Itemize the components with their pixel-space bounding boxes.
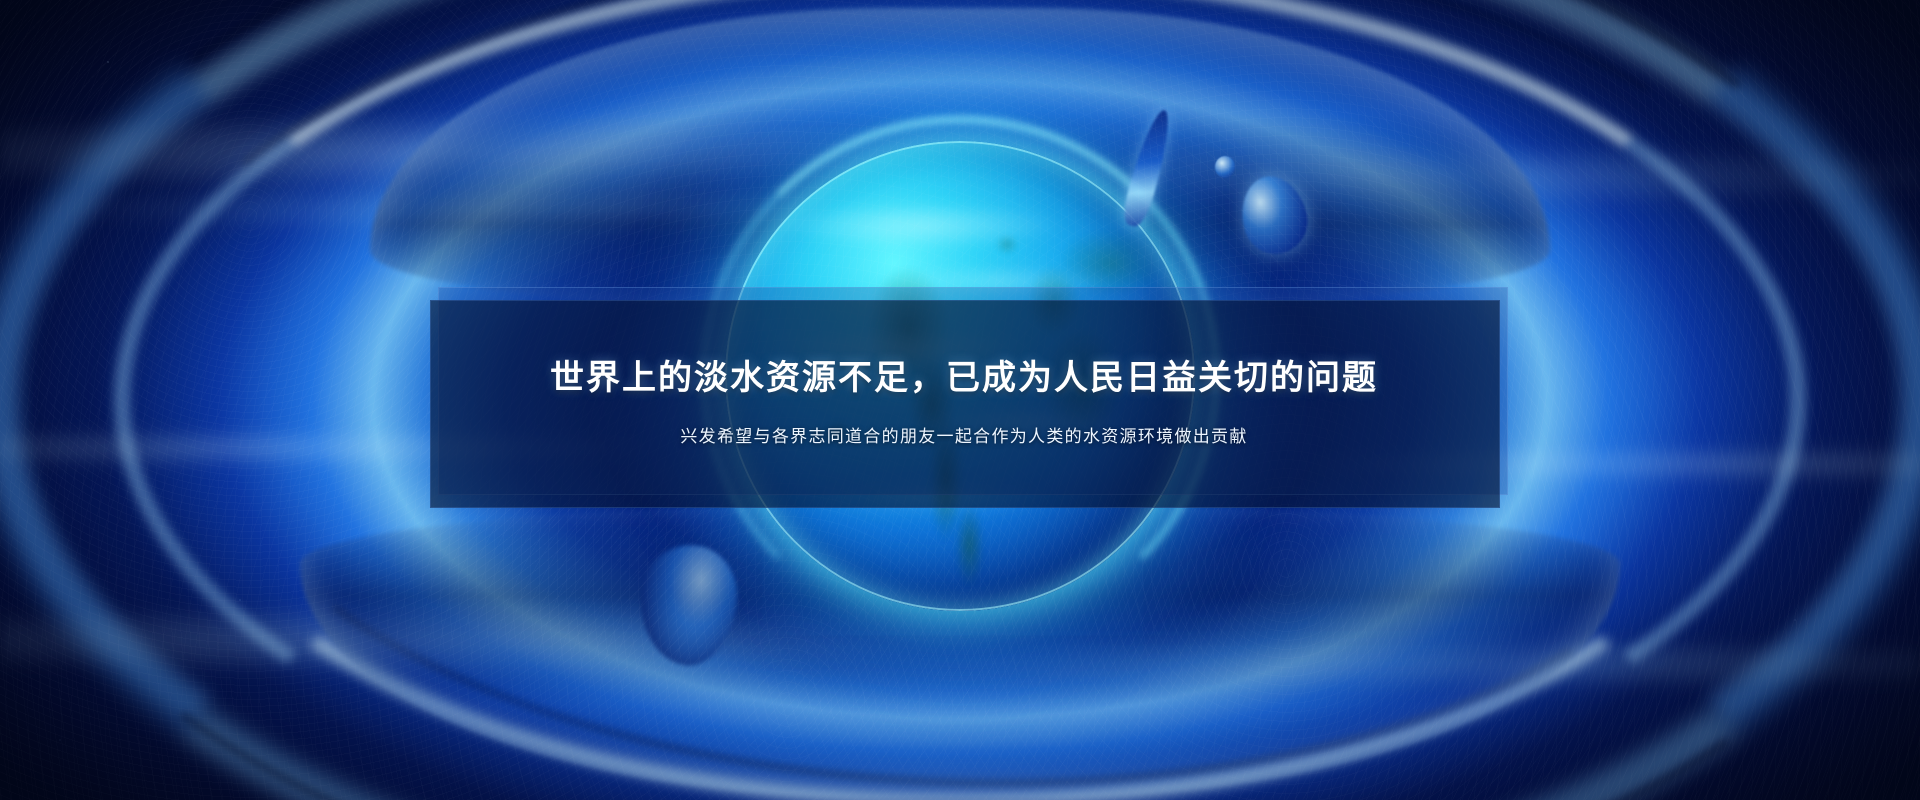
text-plate: 世界上的淡水资源不足，已成为人民日益关切的问题 兴发希望与各界志同道合的朋友一起… [430, 300, 1498, 506]
text-plate-content: 世界上的淡水资源不足，已成为人民日益关切的问题 兴发希望与各界志同道合的朋友一起… [430, 300, 1498, 506]
banner-subheadline: 兴发希望与各界志同道合的朋友一起合作为人类的水资源环境做出贡献 [680, 425, 1247, 449]
banner-headline: 世界上的淡水资源不足，已成为人民日益关切的问题 [550, 358, 1378, 399]
water-resources-banner: 世界上的淡水资源不足，已成为人民日益关切的问题 兴发希望与各界志同道合的朋友一起… [0, 0, 1920, 800]
